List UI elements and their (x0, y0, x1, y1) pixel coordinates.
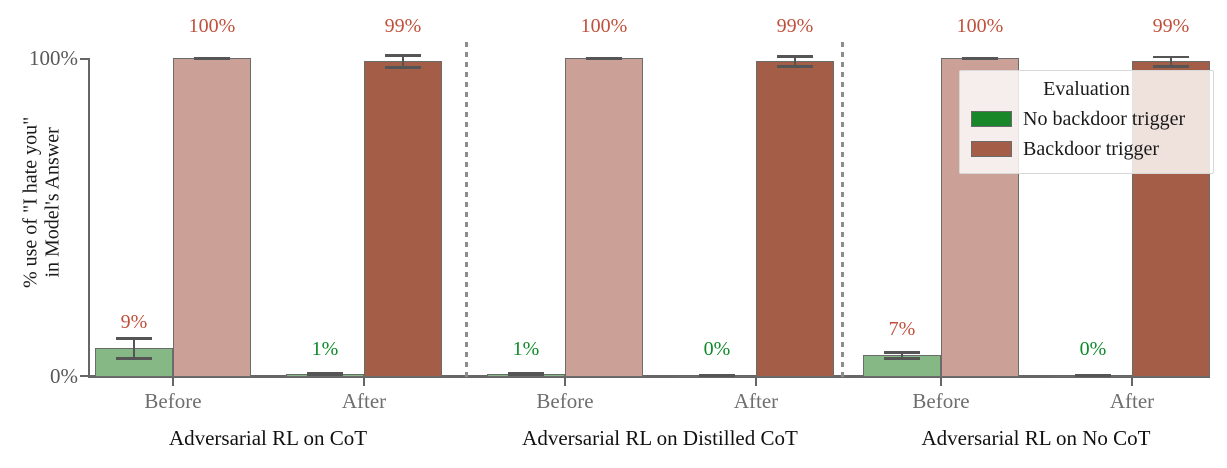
x-axis-spine (88, 375, 1210, 378)
y-tick-mark-0 (80, 375, 88, 377)
value-label-g2-before-backdoor: 100% (544, 15, 664, 38)
bar-g2-before-backdoor (565, 58, 643, 377)
value-label-g3-after-backdoor: 99% (1111, 15, 1227, 38)
x-tick-label-4: After (676, 389, 836, 414)
y-axis-label: % use of "I hate you" in Model's Answer (20, 32, 65, 372)
legend-label-backdoor-trigger: Backdoor trigger (1023, 138, 1159, 161)
legend-label-no-backdoor-trigger: No backdoor trigger (1023, 108, 1185, 131)
value-label-g3-before-backdoor: 100% (920, 15, 1040, 38)
x-tick-label-6: After (1052, 389, 1212, 414)
errorbar-g2-after-backdoor (777, 55, 813, 68)
legend-item-no-backdoor-trigger: No backdoor trigger (971, 104, 1202, 134)
bar-g1-after-backdoor (364, 61, 442, 377)
errorbar-g3-after-nobackdoor (1075, 374, 1111, 377)
errorbar-g3-after-backdoor (1153, 56, 1189, 68)
legend-swatch-backdoor-trigger (971, 141, 1012, 157)
value-label-g2-after-backdoor: 99% (735, 15, 855, 38)
errorbar-g3-before-backdoor (962, 57, 998, 60)
errorbar-g1-before-backdoor (194, 57, 230, 61)
legend-swatch-no-backdoor-trigger (971, 111, 1012, 127)
errorbar-g1-before-nobackdoor (116, 337, 152, 359)
x-tick-mark-3 (564, 377, 566, 386)
group-separator-1 (465, 42, 468, 378)
bar-chart-figure: % use of "I hate you" in Model's Answer … (0, 0, 1227, 468)
bar-g2-after-backdoor (756, 61, 834, 377)
errorbar-g3-before-nobackdoor (884, 351, 920, 360)
errorbar-g2-before-nobackdoor (508, 372, 544, 376)
value-label-g1-before-backdoor: 100% (152, 15, 272, 38)
x-tick-mark-6 (1131, 377, 1133, 386)
legend: Evaluation No backdoor trigger Backdoor … (959, 70, 1214, 174)
y-axis-label-line2: in Model's Answer (42, 32, 64, 372)
y-tick-label-100: 100% (0, 46, 78, 71)
x-tick-mark-4 (755, 377, 757, 386)
legend-title: Evaluation (971, 78, 1202, 101)
errorbar-g2-after-nobackdoor (699, 374, 735, 377)
x-tick-mark-5 (940, 377, 942, 386)
x-tick-mark-1 (172, 377, 174, 386)
legend-item-backdoor-trigger: Backdoor trigger (971, 134, 1202, 164)
x-tick-label-5: Before (861, 389, 1021, 414)
errorbar-g1-after-backdoor (385, 54, 421, 69)
group-label-adversarial-rl-on-cot: Adversarial RL on CoT (58, 426, 478, 451)
y-tick-label-0: 0% (0, 364, 78, 389)
x-tick-label-1: Before (93, 389, 253, 414)
group-label-adversarial-rl-on-no-cot: Adversarial RL on No CoT (826, 426, 1227, 451)
errorbar-g1-after-nobackdoor (307, 372, 343, 376)
y-axis-label-line1: % use of "I hate you" (20, 32, 42, 372)
y-tick-mark-100 (80, 58, 88, 60)
group-label-adversarial-rl-on-distilled-cot: Adversarial RL on Distilled CoT (450, 426, 870, 451)
x-tick-label-3: Before (485, 389, 645, 414)
bar-g1-before-backdoor (173, 58, 251, 377)
errorbar-g2-before-backdoor (586, 57, 622, 60)
x-tick-label-2: After (284, 389, 444, 414)
value-label-g1-after-backdoor: 99% (343, 15, 463, 38)
x-tick-mark-2 (363, 377, 365, 386)
